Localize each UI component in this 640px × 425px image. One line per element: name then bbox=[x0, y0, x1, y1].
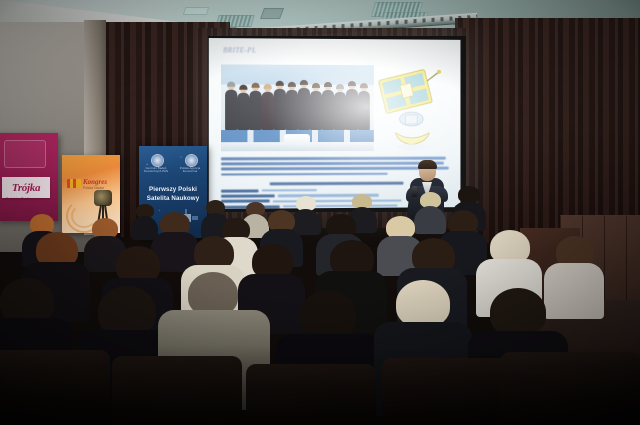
banner-caption-left: Centrum Badań Kosmicznych PAN bbox=[141, 167, 171, 174]
seated-audience bbox=[0, 180, 640, 425]
photo-person-hair bbox=[336, 84, 344, 89]
banner-caption-right: Polska Agencja Kosmiczna bbox=[175, 167, 205, 174]
recessed-ceiling-light bbox=[183, 7, 210, 15]
photo-person bbox=[298, 88, 310, 130]
photo-person-hair bbox=[348, 81, 356, 86]
audience-hair bbox=[300, 290, 356, 340]
auditorium-seat bbox=[112, 356, 242, 425]
photo-person bbox=[237, 93, 249, 130]
audience-hair bbox=[490, 288, 546, 336]
photo-person bbox=[249, 91, 261, 130]
satellite-illustration bbox=[376, 63, 449, 151]
slide-text-line bbox=[221, 167, 448, 170]
ceiling-vent bbox=[260, 8, 284, 19]
audience-torso bbox=[544, 263, 604, 319]
photo-person bbox=[322, 90, 334, 130]
presenter-hair bbox=[418, 160, 437, 169]
photo-person-hair bbox=[360, 83, 368, 88]
slide-logo-text: BRITE-PL bbox=[223, 46, 268, 54]
photo-person bbox=[225, 90, 237, 130]
photo-person-hair bbox=[288, 82, 296, 87]
photo-person bbox=[262, 92, 274, 130]
photo-ceremonial-cake bbox=[284, 134, 310, 145]
photo-person-hair bbox=[324, 82, 332, 87]
photo-person bbox=[274, 89, 286, 130]
auditorium-seat bbox=[382, 358, 512, 425]
photo-person-hair bbox=[312, 83, 320, 88]
photo-person-hair bbox=[300, 80, 308, 85]
photo-person-hair bbox=[264, 84, 272, 89]
photo-person-hair bbox=[276, 81, 284, 86]
auditorium-seat bbox=[500, 352, 640, 425]
photo-person bbox=[334, 92, 346, 130]
audience-hair bbox=[396, 280, 450, 327]
slide-group-photo bbox=[221, 64, 374, 151]
photo-person bbox=[286, 90, 298, 130]
photo-person bbox=[310, 91, 322, 130]
photo-person-hair bbox=[227, 82, 235, 87]
photo-person bbox=[346, 89, 358, 130]
photo-person-hair bbox=[251, 83, 259, 88]
audience-hair bbox=[98, 286, 156, 336]
audience-torso bbox=[414, 206, 446, 234]
auditorium-seat bbox=[0, 350, 110, 425]
slide-text-line bbox=[221, 162, 444, 165]
slide-logo: BRITE-PL bbox=[223, 46, 268, 59]
photo-person-hair bbox=[239, 85, 247, 90]
audience-torso bbox=[131, 216, 158, 240]
photo-person bbox=[358, 91, 370, 130]
auditorium-seat bbox=[246, 364, 376, 425]
trojka-logo-mark bbox=[4, 140, 46, 168]
slide-text-line bbox=[221, 157, 446, 160]
slide-text-line bbox=[221, 172, 387, 175]
conference-photo-scene: BRITE-PL bbox=[0, 0, 640, 425]
